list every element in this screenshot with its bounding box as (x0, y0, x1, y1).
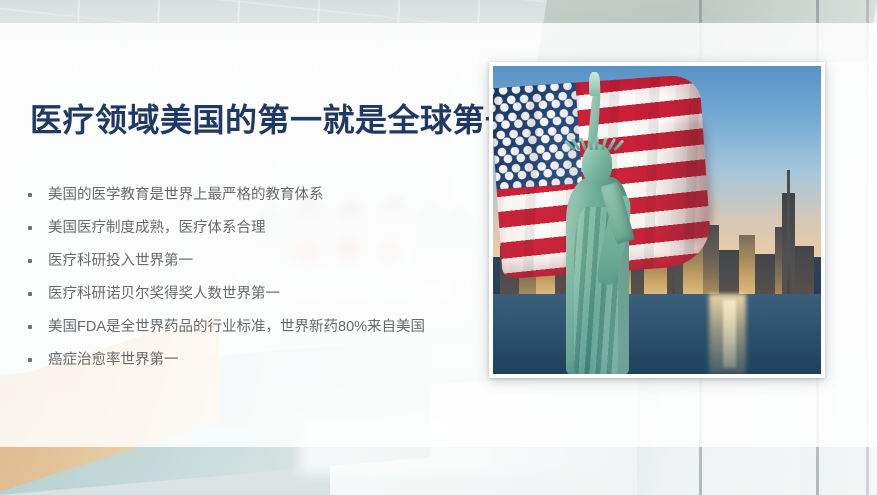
bullet-list: 美国的医学教育是世界上最严格的教育体系 美国医疗制度成熟，医疗体系合理 医疗科研… (24, 178, 454, 376)
list-item: 美国FDA是全世界药品的行业标准，世界新药80%来自美国 (24, 310, 454, 343)
bullet-marker-icon (28, 259, 32, 263)
bullet-marker-icon (28, 226, 32, 230)
slide: 医疗领域美国的第一就是全球第一 美国的医学教育是世界上最严格的教育体系 美国医疗… (0, 0, 877, 495)
image-color-grade (493, 66, 821, 374)
slide-image-frame (489, 62, 825, 378)
statue-of-liberty-image (493, 66, 821, 374)
bullet-marker-icon (28, 193, 32, 197)
bullet-marker-icon (28, 358, 32, 362)
list-item-label: 美国的医学教育是世界上最严格的教育体系 (48, 185, 324, 205)
slide-title: 医疗领域美国的第一就是全球第一 (30, 100, 518, 140)
list-item: 癌症治愈率世界第一 (24, 343, 454, 376)
bullet-marker-icon (28, 292, 32, 296)
list-item: 医疗科研诺贝尔奖得奖人数世界第一 (24, 277, 454, 310)
list-item-label: 美国医疗制度成熟，医疗体系合理 (48, 218, 266, 238)
list-item-label: 医疗科研投入世界第一 (48, 251, 193, 271)
list-item-label: 癌症治愈率世界第一 (48, 350, 179, 370)
list-item-label: 医疗科研诺贝尔奖得奖人数世界第一 (48, 284, 280, 304)
slide-content: 医疗领域美国的第一就是全球第一 美国的医学教育是世界上最严格的教育体系 美国医疗… (0, 0, 877, 495)
list-item: 美国的医学教育是世界上最严格的教育体系 (24, 178, 454, 211)
list-item: 美国医疗制度成熟，医疗体系合理 (24, 211, 454, 244)
list-item: 医疗科研投入世界第一 (24, 244, 454, 277)
list-item-label: 美国FDA是全世界药品的行业标准，世界新药80%来自美国 (48, 317, 425, 337)
bullet-marker-icon (28, 325, 32, 329)
